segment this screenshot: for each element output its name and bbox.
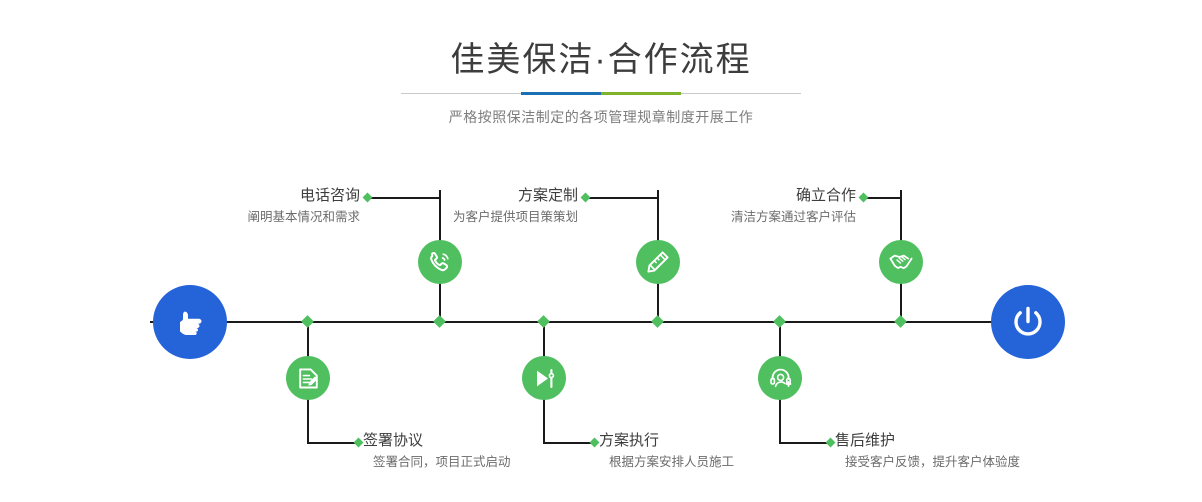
phone-call-icon: [427, 249, 453, 275]
pencil-ruler-icon: [645, 249, 671, 275]
process-flow-infographic: 佳美保洁·合作流程 严格按照保洁制定的各项管理规章制度开展工作: [0, 0, 1202, 502]
title-divider: [401, 93, 801, 94]
axis-marker-step-3: [651, 315, 664, 328]
step-title-step-3: 方案定制: [290, 186, 578, 206]
flow-end-endpoint: [991, 285, 1065, 359]
axis-marker-step-2: [301, 315, 314, 328]
timeline-axis: [150, 321, 1050, 323]
step-icon-step-6[interactable]: [758, 356, 802, 400]
divider-green-segment: [601, 92, 681, 95]
step-desc-step-6: 接受客户反馈，提升客户体验度: [835, 453, 1175, 472]
step-icon-step-3[interactable]: [636, 240, 680, 284]
page-subtitle: 严格按照保洁制定的各项管理规章制度开展工作: [0, 106, 1202, 128]
document-edit-icon: [296, 366, 321, 391]
pointing-hand-icon: [170, 302, 210, 342]
step-title-step-6: 售后维护: [835, 431, 1175, 451]
axis-marker-step-5: [894, 315, 907, 328]
step-icon-step-4[interactable]: [522, 356, 566, 400]
step-desc-step-3: 为客户提供项目策策划: [290, 208, 578, 227]
power-button-icon: [1007, 301, 1049, 343]
handshake-icon: [888, 249, 915, 276]
step-label-step-6: 售后维护 接受客户反馈，提升客户体验度: [835, 431, 1175, 472]
label-marker-step-2: [354, 438, 364, 448]
axis-marker-step-6: [773, 315, 786, 328]
step-label-step-3: 方案定制 为客户提供项目策策划: [290, 186, 578, 227]
axis-marker-step-1: [433, 315, 446, 328]
step-icon-step-1[interactable]: [418, 240, 462, 284]
label-marker-step-5: [859, 193, 869, 203]
step-icon-step-5[interactable]: [879, 240, 923, 284]
play-execute-icon: [532, 366, 557, 391]
axis-marker-step-4: [537, 315, 550, 328]
step-title-step-5: 确立合作: [570, 186, 856, 206]
step-desc-step-5: 清洁方案通过客户评估: [570, 208, 856, 227]
connector-horizontal-step-5: [866, 197, 902, 199]
flow-start-endpoint: [153, 285, 227, 359]
page-title: 佳美保洁·合作流程: [0, 38, 1202, 82]
divider-blue-segment: [521, 92, 601, 95]
step-icon-step-2[interactable]: [286, 356, 330, 400]
step-label-step-5: 确立合作 清洁方案通过客户评估: [570, 186, 856, 227]
headset-support-icon: [768, 366, 793, 391]
